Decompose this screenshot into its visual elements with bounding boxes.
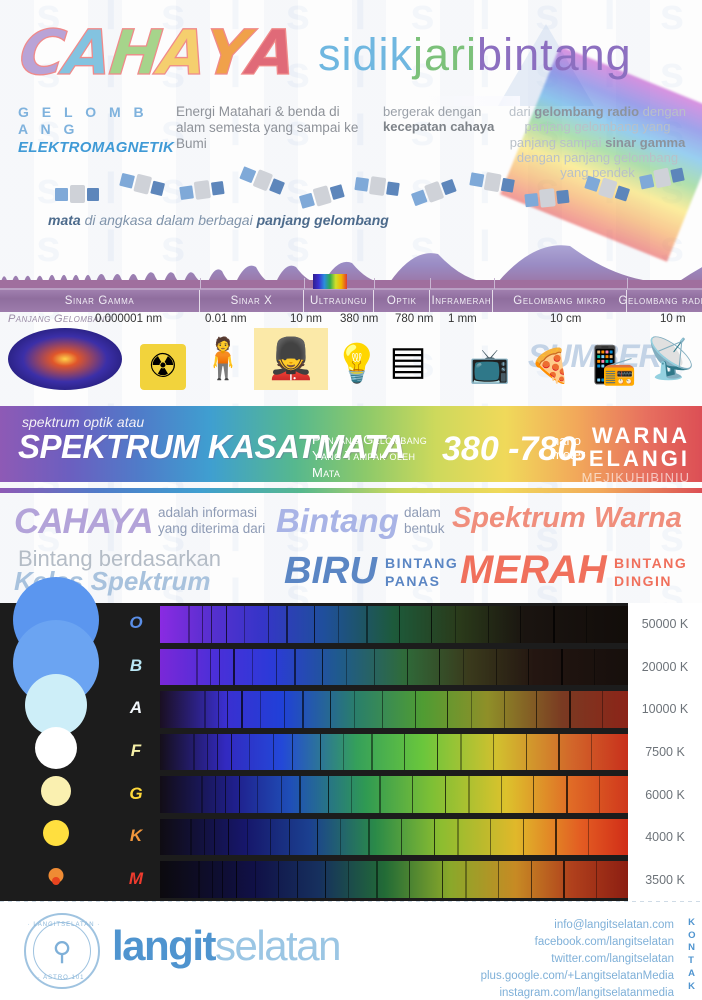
star-extra xyxy=(52,877,60,885)
message-section: CAHAYA adalah informasi yang diterima da… xyxy=(0,488,702,598)
kontak-letter-4: A xyxy=(688,968,696,981)
seal-bottom-text: · ASTRO 101 · xyxy=(26,975,102,981)
absorption-line xyxy=(222,861,223,898)
header-bergerak-label: bergerak dengan xyxy=(383,104,508,119)
absorption-line xyxy=(207,734,208,771)
absorption-line xyxy=(566,776,568,813)
spectral-class-letters-column: OBAFGKM xyxy=(112,603,160,901)
rainbow-divider xyxy=(0,488,702,493)
contact-link-1[interactable]: facebook.com/langitselatan xyxy=(481,934,674,951)
visible-spectrum-band: spektrum optik atau SPEKTRUM KASATMATA P… xyxy=(0,406,702,482)
absorption-line xyxy=(463,649,465,686)
temperature-label-K: 4000 K xyxy=(628,816,702,859)
absorption-line xyxy=(348,861,349,898)
logo-selatan: selatan xyxy=(215,922,340,969)
absorption-line xyxy=(520,606,521,643)
satellite-icon-5 xyxy=(353,171,400,203)
absorption-line xyxy=(320,734,321,771)
temperature-label-B: 20000 K xyxy=(628,646,702,689)
spectrum-strip-O xyxy=(160,606,628,643)
absorption-line xyxy=(488,606,489,643)
absorption-line xyxy=(284,691,285,728)
absorption-line xyxy=(445,776,446,813)
absorption-line xyxy=(215,776,216,813)
header-gelombang-label: G E L O M B A N G xyxy=(18,104,168,137)
langitselatan-wordmark[interactable]: langitselatan xyxy=(112,925,340,967)
absorption-line xyxy=(563,861,565,898)
absorption-line xyxy=(374,649,376,686)
absorption-line xyxy=(278,861,279,898)
dingin-line-2: DINGIN xyxy=(614,572,687,590)
absorption-line xyxy=(591,734,592,771)
warna-label: WARNA xyxy=(571,424,690,447)
warna-pelangi-label: WARNA PELANGI MEJIKUHIBINIU xyxy=(571,424,690,482)
spectrum-segment-ultraungu[interactable]: Ultraungu xyxy=(304,290,374,312)
absorption-line xyxy=(493,734,494,771)
absorption-line xyxy=(439,649,440,686)
panas-line-2: PANAS xyxy=(385,572,458,590)
wavelength-label-6: 10 cm xyxy=(550,313,581,325)
absorption-line xyxy=(586,606,587,643)
absorption-line xyxy=(531,861,532,898)
absorption-line xyxy=(247,819,248,856)
absorption-line xyxy=(457,819,459,856)
absorption-line xyxy=(596,861,597,898)
absorption-line xyxy=(409,861,410,898)
absorption-line xyxy=(239,776,241,813)
title-letter-0: C xyxy=(17,22,67,84)
absorption-line xyxy=(330,691,331,728)
absorption-line xyxy=(249,734,250,771)
absorption-line xyxy=(561,649,563,686)
absorption-line xyxy=(227,691,228,728)
wavelength-label-3: 380 nm xyxy=(340,313,378,325)
absorption-line xyxy=(317,819,318,856)
mejikuhibiniu-label: MEJIKUHIBINIU xyxy=(571,470,690,482)
spectrum-strip-F xyxy=(160,734,628,771)
absorption-line xyxy=(231,734,233,771)
absorption-line xyxy=(553,606,555,643)
sat-caption-part-1: di angkasa dalam berbagai xyxy=(81,212,257,228)
heater-icon: ▤ xyxy=(382,332,434,390)
absorption-line xyxy=(204,819,205,856)
panjang-gelombang-sublabel: Panjang Gelombang Yang Tampak oleh Mata xyxy=(312,432,436,481)
television-icon: 📺 xyxy=(462,344,518,390)
adalah-line-1: adalah informasi xyxy=(158,505,265,521)
title-letter-5: A xyxy=(245,22,298,84)
msg-adalah-informasi: adalah informasi yang diterima dari xyxy=(158,505,265,536)
satellite-icon-0 xyxy=(55,182,99,208)
spectral-class-letter-O[interactable]: O xyxy=(112,613,160,633)
radio-receiver-icon: 📻 xyxy=(596,352,642,390)
absorption-line xyxy=(498,861,499,898)
spectrum-tick-5 xyxy=(627,278,628,289)
title-letter-1: A xyxy=(60,22,113,84)
satellite-caption: mata di angkasa dalam berbagai panjang g… xyxy=(48,212,389,228)
absorption-line xyxy=(201,776,203,813)
temperature-label-M: 3500 K xyxy=(628,858,702,901)
absorption-line xyxy=(289,819,291,856)
temperature-column: 50000 K20000 K10000 K7500 K6000 K4000 K3… xyxy=(628,603,702,901)
absorption-line xyxy=(555,819,557,856)
absorption-line xyxy=(404,734,405,771)
star-disc-K xyxy=(43,820,69,846)
seal-inner-icon: ⚲ xyxy=(33,922,91,980)
spectral-class-letter-F[interactable]: F xyxy=(112,741,160,761)
absorption-line xyxy=(536,691,537,728)
satellite-icon-4 xyxy=(297,178,346,215)
absorption-line xyxy=(366,606,368,643)
absorption-line xyxy=(281,776,282,813)
page-subtitle: sidik jari bintang xyxy=(318,32,632,77)
footer-section: · LANGITSELATAN · ⚲ · ASTRO 101 · langit… xyxy=(0,901,702,1000)
spectrum-segment-gelombang-mikro[interactable]: Gelombang mikro xyxy=(493,290,626,312)
spectrum-tick-4 xyxy=(494,278,495,289)
star-disc-F xyxy=(35,727,77,769)
absorption-line xyxy=(415,691,416,728)
absorption-line xyxy=(412,776,413,813)
spectral-class-letter-A[interactable]: A xyxy=(112,698,160,718)
header-section: CAHAYA sidik jari bintang G E L O M B A … xyxy=(0,0,702,175)
wave-svg xyxy=(0,228,702,290)
wavelength-scale: Panjang Gelombang 0.000001 nm0.01 nm10 n… xyxy=(0,313,702,333)
absorption-line xyxy=(501,776,502,813)
xray-patient-icon: 🧍 xyxy=(200,328,246,390)
seal-top-text: · LANGITSELATAN · xyxy=(26,922,102,928)
sat-caption-part-0: mata xyxy=(48,212,81,228)
absorption-line xyxy=(523,819,524,856)
lightbulb-icon: 💡 xyxy=(336,338,378,390)
wavelength-label-4: 780 nm xyxy=(395,313,433,325)
kontak-letter-1: O xyxy=(688,930,696,943)
msg-cahaya: CAHAYA xyxy=(14,502,153,542)
star-G xyxy=(41,776,71,806)
absorption-line xyxy=(401,819,402,856)
absorption-line xyxy=(273,734,274,771)
absorption-line xyxy=(210,649,211,686)
visible-light-rainbow-icon xyxy=(313,274,347,289)
title-letter-3: A xyxy=(156,22,209,84)
absorption-line xyxy=(268,606,269,643)
satellite-icon-10 xyxy=(638,162,686,197)
page-title: CAHAYA xyxy=(20,22,294,84)
source-icons-strip: ☢🧍💂💡▤📺🍕📱📻📡 xyxy=(0,328,702,400)
msg-merah: MERAH xyxy=(460,548,607,593)
microwave-pizza-icon: 🍕 xyxy=(524,344,578,390)
absorption-line xyxy=(196,649,198,686)
temperature-label-A: 10000 K xyxy=(628,688,702,731)
absorption-line xyxy=(602,691,603,728)
dalam-line-1: dalam xyxy=(404,505,445,521)
satellite-icon-8 xyxy=(524,184,570,214)
logo-langit: langit xyxy=(112,922,215,969)
electromagnetic-spectrum-bar: Sinar GammaSinar XUltraunguOptikInframer… xyxy=(0,288,702,312)
absorption-line xyxy=(343,734,344,771)
spectrum-strip-G xyxy=(160,776,628,813)
kontak-letter-5: K xyxy=(688,981,696,994)
infographic-poster: lslslslslslslslslslslslslslslslslslslsls… xyxy=(0,0,702,1000)
star-disc-G xyxy=(41,776,71,806)
header-elektromagnetik-label: ELEKTROMAGNETIK xyxy=(18,139,168,157)
spectrum-segment-optik[interactable]: Optik xyxy=(374,290,430,312)
contact-link-3[interactable]: plus.google.com/+LangitselatanMedia xyxy=(481,968,674,985)
sub-line-1: Panjang Gelombang xyxy=(312,432,436,448)
spectrum-segment-sinar-x[interactable]: Sinar X xyxy=(200,290,304,312)
absorption-line xyxy=(198,861,200,898)
header-col-electromagnetic: G E L O M B A N G ELEKTROMAGNETIK xyxy=(18,104,168,157)
absorption-line xyxy=(371,734,373,771)
absorption-line xyxy=(496,649,497,686)
title-letter-2: H xyxy=(106,22,162,84)
absorption-line xyxy=(219,649,220,686)
absorption-line xyxy=(504,691,505,728)
absorption-line xyxy=(202,606,203,643)
spectrum-tick-3 xyxy=(430,278,431,289)
wave-illustration xyxy=(0,228,702,290)
subtitle-word-0: sidik xyxy=(318,32,413,77)
range-text-part-0: dari xyxy=(509,104,534,119)
absorption-line xyxy=(297,861,299,898)
absorption-line xyxy=(218,691,219,728)
absorption-line xyxy=(294,649,296,686)
absorption-line xyxy=(314,606,315,643)
absorption-line xyxy=(328,776,329,813)
wavelength-label-2: 10 nm xyxy=(290,313,322,325)
absorption-line xyxy=(228,819,230,856)
contact-link-2[interactable]: twitter.com/langitselatan xyxy=(481,951,674,968)
spectral-class-letter-M[interactable]: M xyxy=(112,869,160,889)
range-text-part-1: gelombang radio xyxy=(534,104,639,119)
radioactive-icon: ☢ xyxy=(140,344,186,390)
absorption-line xyxy=(244,606,245,643)
absorption-line xyxy=(252,649,253,686)
kontak-letter-0: K xyxy=(688,917,696,930)
absorption-line xyxy=(233,649,235,686)
absorption-line xyxy=(407,649,408,686)
absorption-line xyxy=(588,819,589,856)
absorption-line xyxy=(188,606,190,643)
kontak-vertical-label: KONTAK xyxy=(688,917,696,993)
wavelength-label-5: 1 mm xyxy=(448,313,477,325)
adalah-line-2: yang diterima dari xyxy=(158,521,265,537)
spectrum-strip-M xyxy=(160,861,628,898)
title-letter-4: Y xyxy=(202,22,251,84)
spectral-class-letter-G[interactable]: G xyxy=(112,784,160,804)
panas-line-1: BINTANG xyxy=(385,554,458,572)
absorption-line xyxy=(260,691,261,728)
absorption-line xyxy=(368,819,370,856)
dalam-line-2: bentuk xyxy=(404,521,445,537)
absorption-line xyxy=(212,861,213,898)
absorption-line xyxy=(204,691,206,728)
absorption-line xyxy=(236,861,238,898)
absorption-line xyxy=(599,776,600,813)
kontak-letter-2: N xyxy=(688,942,696,955)
temperature-label-O: 50000 K xyxy=(628,603,702,646)
dingin-line-1: BINTANG xyxy=(614,554,687,572)
absorption-line xyxy=(468,776,470,813)
msg-dalam-bentuk: dalam bentuk xyxy=(404,505,445,536)
subtitle-word-1: jari xyxy=(413,32,477,77)
sub-line-2: Yang Tampak oleh Mata xyxy=(312,448,436,481)
temperature-label-F: 7500 K xyxy=(628,731,702,774)
spectrum-strip-B xyxy=(160,649,628,686)
absorption-line xyxy=(354,691,355,728)
spectrum-segment-gelombang-radio[interactable]: Gelombang radio xyxy=(627,290,702,312)
absorption-line xyxy=(302,691,304,728)
absorption-line xyxy=(338,606,339,643)
absorption-line xyxy=(533,776,534,813)
absorption-line xyxy=(471,691,473,728)
msg-spektrum-warna: Spektrum Warna xyxy=(452,502,682,535)
contact-link-0[interactable]: info@langitselatan.com xyxy=(481,917,674,934)
wavelength-label-1: 0.01 nm xyxy=(205,313,247,325)
absorption-line xyxy=(346,649,347,686)
contact-link-4[interactable]: instagram.com/langitselatanmedia xyxy=(481,985,674,1000)
absorption-line xyxy=(292,734,294,771)
star-K xyxy=(43,820,69,846)
langitselatan-seal-logo: · LANGITSELATAN · ⚲ · ASTRO 101 · xyxy=(24,913,100,989)
absorption-line xyxy=(437,734,438,771)
absorption-line xyxy=(255,861,256,898)
absorption-line xyxy=(225,776,226,813)
absorption-line xyxy=(325,861,326,898)
absorption-line xyxy=(340,819,341,856)
absorption-line xyxy=(442,861,443,898)
absorption-line xyxy=(217,734,218,771)
absorption-line xyxy=(569,691,571,728)
absorption-line xyxy=(270,819,271,856)
absorption-line xyxy=(193,734,195,771)
msg-bintang: Bintang xyxy=(276,502,399,540)
absorption-line xyxy=(447,691,448,728)
absorption-line xyxy=(431,606,432,643)
spectrum-tick-0 xyxy=(200,278,201,289)
star-size-column xyxy=(0,603,112,901)
absorption-line xyxy=(399,606,400,643)
galaxy-map-icon xyxy=(8,328,122,390)
absorption-line xyxy=(460,734,462,771)
sunbathing-woman-icon: 💂 xyxy=(254,328,328,390)
pelangi-label: PELANGI xyxy=(571,447,690,470)
spectral-class-letter-K[interactable]: K xyxy=(112,826,160,846)
footer-divider xyxy=(0,901,702,902)
spectrum-segment-inframerah[interactable]: Inframerah xyxy=(430,290,493,312)
absorption-line xyxy=(241,691,243,728)
absorption-line xyxy=(322,649,323,686)
absorption-line xyxy=(465,861,467,898)
satellite-icon-7 xyxy=(468,166,516,199)
absorption-line xyxy=(382,691,384,728)
radio-tower-icon: 📡 xyxy=(648,328,694,390)
header-kecepatan-label: kecepatan cahaya xyxy=(383,119,508,134)
absorption-line xyxy=(190,819,192,856)
satellite-icon-6 xyxy=(409,173,459,212)
spectrum-strip-A xyxy=(160,691,628,728)
satellite-icon-9 xyxy=(582,170,632,208)
absorption-line xyxy=(226,606,228,643)
msg-bintang-panas: BINTANG PANAS xyxy=(385,554,458,590)
sat-caption-part-2: panjang gelombang xyxy=(257,212,389,228)
msg-bintang-dingin: BINTANG DINGIN xyxy=(614,554,687,590)
temperature-label-G: 6000 K xyxy=(628,773,702,816)
absorption-line xyxy=(276,649,277,686)
absorption-line xyxy=(528,649,529,686)
range-text-part-3: sinar gamma xyxy=(605,135,685,150)
absorption-line xyxy=(351,776,352,813)
absorption-line xyxy=(594,649,595,686)
subtitle-word-2: bintang xyxy=(477,32,632,77)
star-disc-extra xyxy=(52,877,60,885)
msg-biru: BIRU xyxy=(284,550,377,593)
satellite-icon-3 xyxy=(237,161,288,202)
absorption-line xyxy=(211,606,212,643)
spectrum-tick-2 xyxy=(374,278,375,289)
absorption-line xyxy=(376,861,378,898)
spectrum-segment-sinar-gamma[interactable]: Sinar Gamma xyxy=(0,290,200,312)
satellite-icon-1 xyxy=(118,167,167,203)
absorption-line xyxy=(558,734,560,771)
spectrum-strip-K xyxy=(160,819,628,856)
absorption-line xyxy=(455,606,457,643)
wavelength-label-0: 0.000001 nm xyxy=(95,313,162,325)
absorption-line xyxy=(379,776,381,813)
header-col-energy: Energi Matahari & benda di alam semesta … xyxy=(176,104,371,152)
absorption-line xyxy=(490,819,491,856)
satellite-icon-2 xyxy=(178,175,225,207)
absorption-line xyxy=(214,819,215,856)
kontak-letter-3: T xyxy=(688,955,696,968)
absorption-line xyxy=(434,819,435,856)
stellar-class-chart: OBAFGKM 50000 K20000 K10000 K7500 K6000 … xyxy=(0,603,702,901)
absorption-line xyxy=(526,734,527,771)
absorption-line xyxy=(286,606,288,643)
spectra-strips-column xyxy=(160,603,628,901)
absorption-line xyxy=(299,776,301,813)
header-col-speed: bergerak dengan kecepatan cahaya xyxy=(383,104,508,135)
spectrum-tick-1 xyxy=(304,278,305,289)
absorption-line xyxy=(257,776,258,813)
wavelength-label-7: 10 m xyxy=(660,313,686,325)
star-F xyxy=(35,727,77,769)
spectral-class-letter-B[interactable]: B xyxy=(112,656,160,676)
contact-links-list: info@langitselatan.comfacebook.com/langi… xyxy=(481,917,674,1000)
